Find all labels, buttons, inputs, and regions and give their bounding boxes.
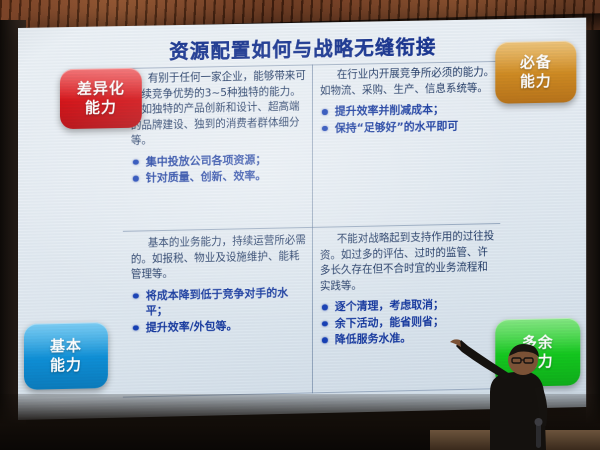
quadrant-basic-paragraph: 基本的业务能力，持续运营所必需的。如报税、物业及设施维护、能耗管理等。 (131, 233, 306, 283)
lecture-room-scene: 资源配置如何与战略无缝衔接 有别于任何一家企业，能够带来可持续竞争优势的3~5种… (0, 0, 600, 450)
bullet-dot-icon (322, 304, 327, 310)
quadrant-differentiating: 有别于任何一家企业，能够带来可持续竞争优势的3~5种独特的能力。例如独特的产品创… (123, 64, 312, 187)
bullet-dot-icon (322, 125, 327, 131)
chip-line-1: 差异化 (77, 79, 125, 99)
quadrant-essential-bullets: 提升效率并削减成本； 保持“足够好”的水平即可 (320, 101, 494, 136)
quadrant-basic-bullets: 将成本降到低于竞争对手的水平； 提升效率/外包等。 (131, 284, 306, 335)
bullet-item: 提升效率/外包等。 (131, 316, 306, 335)
bullet-text: 提升效率并削减成本； (335, 103, 444, 118)
bullet-text: 降低服务水准。 (335, 331, 411, 346)
label-chip-basic: 基本 能力 (24, 322, 108, 390)
bullet-text: 余下活动，能省则省； (335, 314, 444, 329)
label-chip-essential: 必备 能力 (495, 41, 576, 104)
bullet-text: 集中投放公司各项资源； (146, 153, 266, 168)
bullet-text: 针对质量、创新、效率。 (146, 169, 266, 184)
quadrant-essential-paragraph: 在行业内开展竞争所必须的能力。如物流、采购、生产、信息系统等。 (320, 65, 494, 99)
bullet-dot-icon (322, 337, 327, 343)
chip-line-2: 能力 (85, 98, 117, 118)
bullet-item: 保持“足够好”的水平即可 (320, 117, 494, 136)
bullet-dot-icon (133, 325, 138, 331)
chip-line-1: 基本 (50, 337, 82, 357)
bullet-dot-icon (322, 109, 327, 115)
bullet-dot-icon (133, 159, 138, 165)
chip-line-1: 必备 (520, 53, 552, 72)
bullet-dot-icon (322, 321, 327, 327)
bullet-dot-icon (133, 176, 138, 182)
chip-line-2: 能力 (50, 356, 82, 376)
quadrant-basic: 基本的业务能力，持续运营所必需的。如报税、物业及设施维护、能耗管理等。 将成本降… (123, 229, 312, 337)
quadrant-redundant-paragraph: 不能对战略起到支持作用的过往投资。如过多的评估、过时的监管、许多长久存在但不合时… (320, 229, 494, 294)
presenter-silhouette (428, 330, 578, 450)
quadrant-differentiating-bullets: 集中投放公司各项资源； 针对质量、创新、效率。 (131, 151, 306, 186)
wall-right (586, 30, 600, 450)
bullet-text: 逐个清理，考虑取消； (335, 298, 444, 313)
bullet-item: 将成本降到低于竞争对手的水平； (131, 284, 306, 319)
bullet-text: 将成本降到低于竞争对手的水平； (146, 286, 288, 318)
bullet-text: 保持“足够好”的水平即可 (335, 119, 458, 134)
chip-line-2: 能力 (520, 72, 552, 91)
quadrant-differentiating-paragraph: 有别于任何一家企业，能够带来可持续竞争优势的3~5种独特的能力。例如独特的产品创… (131, 69, 306, 150)
bullet-text: 提升效率/外包等。 (146, 319, 238, 334)
quadrant-essential: 在行业内开展竞争所必须的能力。如物流、采购、生产、信息系统等。 提升效率并削减成… (312, 61, 500, 137)
bullet-dot-icon (133, 293, 138, 299)
bullet-item: 针对质量、创新、效率。 (131, 167, 306, 186)
label-chip-differentiating: 差异化 能力 (60, 68, 142, 130)
